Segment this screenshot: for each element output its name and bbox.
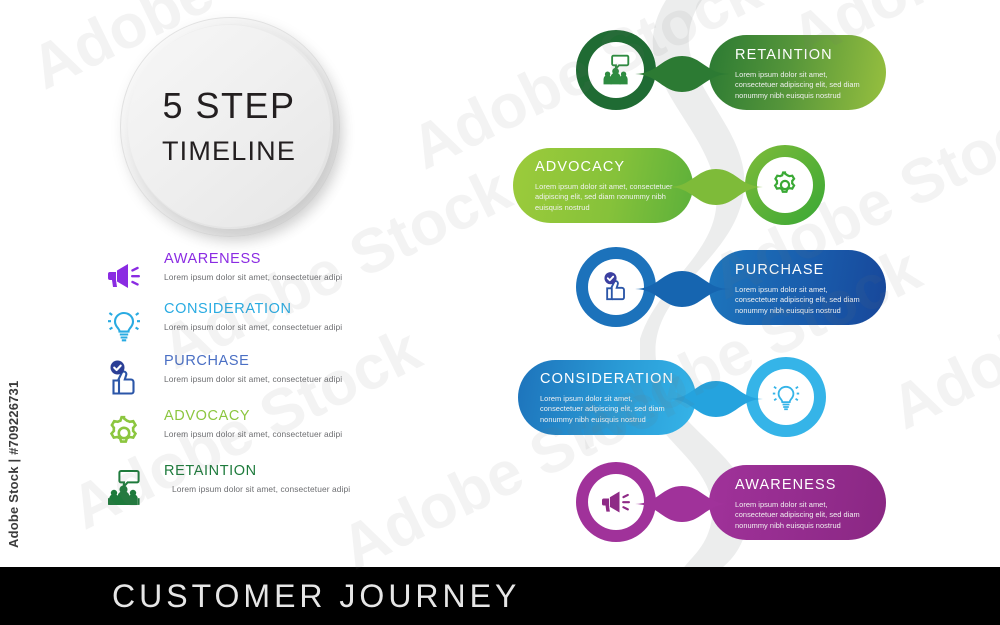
legend-item-awareness[interactable]: AWARENESS Lorem ipsum dolor sit amet, co… <box>98 252 366 302</box>
legend-desc: Lorem ipsum dolor sit amet, consectetuer… <box>164 374 342 384</box>
legend-desc: Lorem ipsum dolor sit amet, consectetuer… <box>164 272 342 282</box>
step-advocacy[interactable]: ADVOCACY Lorem ipsum dolor sit amet, con… <box>513 145 825 227</box>
step-awareness[interactable]: AWARENESS Lorem ipsum dolor sit amet, co… <box>576 462 886 544</box>
step-label: CONSIDERATION <box>540 372 676 387</box>
legend-label: ADVOCACY <box>164 409 342 425</box>
step-consideration[interactable]: CONSIDERATION Lorem ipsum dolor sit amet… <box>518 357 826 439</box>
stock-id-watermark: Adobe Stock | #709226731 <box>6 381 21 548</box>
step-pill[interactable]: AWARENESS Lorem ipsum dolor sit amet, co… <box>709 465 886 540</box>
legend-desc: Lorem ipsum dolor sit amet, consectetuer… <box>164 429 342 439</box>
step-connector <box>668 165 764 214</box>
step-desc: Lorem ipsum dolor sit amet, consectetuer… <box>735 500 870 532</box>
step-desc: Lorem ipsum dolor sit amet, consectetuer… <box>535 182 673 214</box>
step-connector <box>634 267 730 316</box>
megaphone-icon <box>102 254 146 298</box>
step-label: ADVOCACY <box>535 160 673 175</box>
step-pill[interactable]: RETAINTION Lorem ipsum dolor sit amet, c… <box>709 35 886 110</box>
page-subtitle: TIMELINE <box>162 138 296 165</box>
title-badge: 5 STEP TIMELINE <box>128 25 330 227</box>
legend-item-retaintion[interactable]: RETAINTION Lorem ipsum dolor sit amet, c… <box>98 464 366 516</box>
step-connector <box>668 377 764 426</box>
legend-item-purchase[interactable]: PURCHASE Lorem ipsum dolor sit amet, con… <box>98 354 366 409</box>
legend-item-consideration[interactable]: CONSIDERATION Lorem ipsum dolor sit amet… <box>98 302 366 354</box>
step-label: RETAINTION <box>735 48 870 63</box>
lightbulb-icon <box>102 304 146 348</box>
legend-label: CONSIDERATION <box>164 302 342 318</box>
legend-desc: Lorem ipsum dolor sit amet, consectetuer… <box>172 484 350 494</box>
footer-title: CUSTOMER JOURNEY <box>112 578 520 615</box>
step-purchase[interactable]: PURCHASE Lorem ipsum dolor sit amet, con… <box>576 247 886 329</box>
step-connector <box>634 482 730 531</box>
step-retaintion[interactable]: RETAINTION Lorem ipsum dolor sit amet, c… <box>576 30 886 115</box>
watermark-text: Adobe Stock <box>880 214 1000 444</box>
legend-label: AWARENESS <box>164 252 342 268</box>
footer-banner: CUSTOMER JOURNEY <box>0 567 1000 625</box>
legend-desc: Lorem ipsum dolor sit amet, consectetuer… <box>164 322 342 332</box>
people-chat-icon <box>102 466 146 510</box>
gear-icon <box>102 411 146 455</box>
step-desc: Lorem ipsum dolor sit amet, consectetuer… <box>735 70 870 102</box>
step-pill[interactable]: PURCHASE Lorem ipsum dolor sit amet, con… <box>709 250 886 325</box>
infographic-canvas: 5 STEP TIMELINE AWARENESS <box>0 0 1000 625</box>
legend-label: RETAINTION <box>164 464 350 480</box>
thumb-check-icon <box>102 356 146 400</box>
step-connector <box>634 52 730 101</box>
page-title: 5 STEP <box>162 88 295 124</box>
legend-label: PURCHASE <box>164 354 342 370</box>
step-label: AWARENESS <box>735 478 870 493</box>
legend-list: AWARENESS Lorem ipsum dolor sit amet, co… <box>98 252 366 516</box>
legend-item-advocacy[interactable]: ADVOCACY Lorem ipsum dolor sit amet, con… <box>98 409 366 464</box>
step-label: PURCHASE <box>735 263 870 278</box>
step-desc: Lorem ipsum dolor sit amet, consectetuer… <box>735 285 870 317</box>
step-pill[interactable]: ADVOCACY Lorem ipsum dolor sit amet, con… <box>513 148 693 223</box>
step-desc: Lorem ipsum dolor sit amet, consectetuer… <box>540 394 676 426</box>
